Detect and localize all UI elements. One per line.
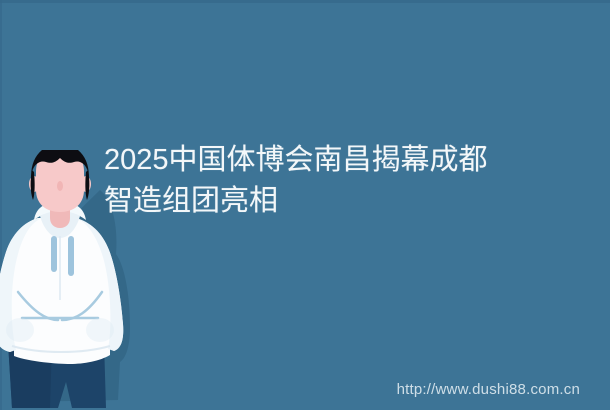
page-title: 2025中国体博会南昌揭幕成都 智造组团亮相 [104,140,574,222]
headline-line-1: 2025中国体博会南昌揭幕成都 [104,140,574,181]
top-edge-band [0,0,610,3]
watermark-url: http://www.dushi88.com.cn [397,381,580,399]
headline-line-2: 智造组团亮相 [104,181,574,222]
article-cover-banner: 2025中国体博会南昌揭幕成都 智造组团亮相 http://www.dushi8… [0,0,610,410]
